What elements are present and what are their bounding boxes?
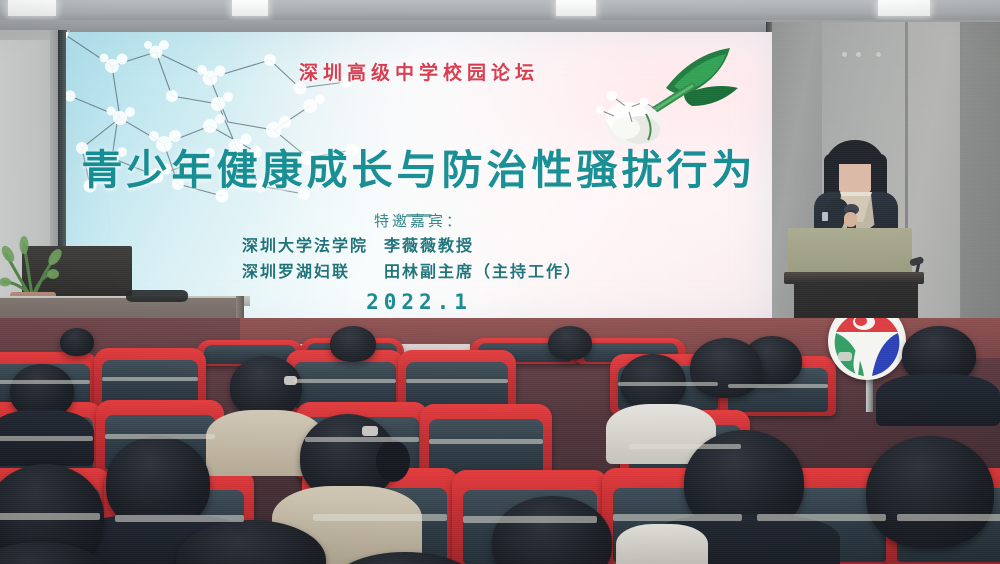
- guest-row: 深圳罗湖妇联 田林副主席（主持工作）: [184, 258, 654, 282]
- audience-area: [0, 318, 1000, 564]
- ceiling-light: [8, 0, 56, 16]
- guest-org: 深圳罗湖妇联: [184, 258, 384, 282]
- guest-person: 田林副主席（主持工作）: [384, 258, 654, 282]
- ceiling-light: [878, 0, 930, 16]
- ceiling-light: [232, 0, 268, 16]
- presenter-hand: [844, 212, 857, 227]
- audience-head: [330, 326, 376, 362]
- podium-top-panel: [788, 228, 912, 274]
- ceiling-light: [556, 0, 596, 16]
- slide-header-text: 深圳高级中学校园论坛: [66, 58, 772, 85]
- desk-object: [126, 290, 188, 302]
- wall-fixture-dots: [842, 52, 886, 57]
- audience-head: [690, 338, 762, 398]
- guest-list: 深圳大学法学院 李薇薇教授 深圳罗湖妇联 田林副主席（主持工作）: [66, 232, 772, 282]
- guest-person: 李薇薇教授: [384, 232, 654, 256]
- guest-org: 深圳大学法学院: [184, 232, 384, 256]
- lecture-hall-screenshot: 深圳高级中学校园论坛 青少年健康成长与防治性骚扰行为 特邀嘉宾： 深圳大学法学院…: [0, 0, 1000, 564]
- ceiling: [0, 0, 1000, 22]
- slide-main-title: 青少年健康成长与防治性骚扰行为: [66, 136, 772, 196]
- ponytail: [376, 440, 410, 482]
- audience-shoulders: [876, 374, 1000, 426]
- hair-clip: [362, 426, 378, 436]
- guest-row: 深圳大学法学院 李薇薇教授: [184, 232, 654, 256]
- audience-head: [866, 436, 994, 548]
- audience-head: [548, 326, 592, 360]
- audience-head: [60, 328, 94, 356]
- audience-shoulders: [616, 524, 708, 564]
- school-crest-icon: [828, 318, 906, 380]
- audience-head: [230, 356, 302, 418]
- projection-screen: 深圳高级中学校园论坛 青少年健康成长与防治性骚扰行为 特邀嘉宾： 深圳大学法学院…: [66, 32, 772, 324]
- presenter-badge: [822, 212, 828, 221]
- hair-clip: [838, 352, 852, 361]
- guest-label: 特邀嘉宾：: [66, 210, 772, 231]
